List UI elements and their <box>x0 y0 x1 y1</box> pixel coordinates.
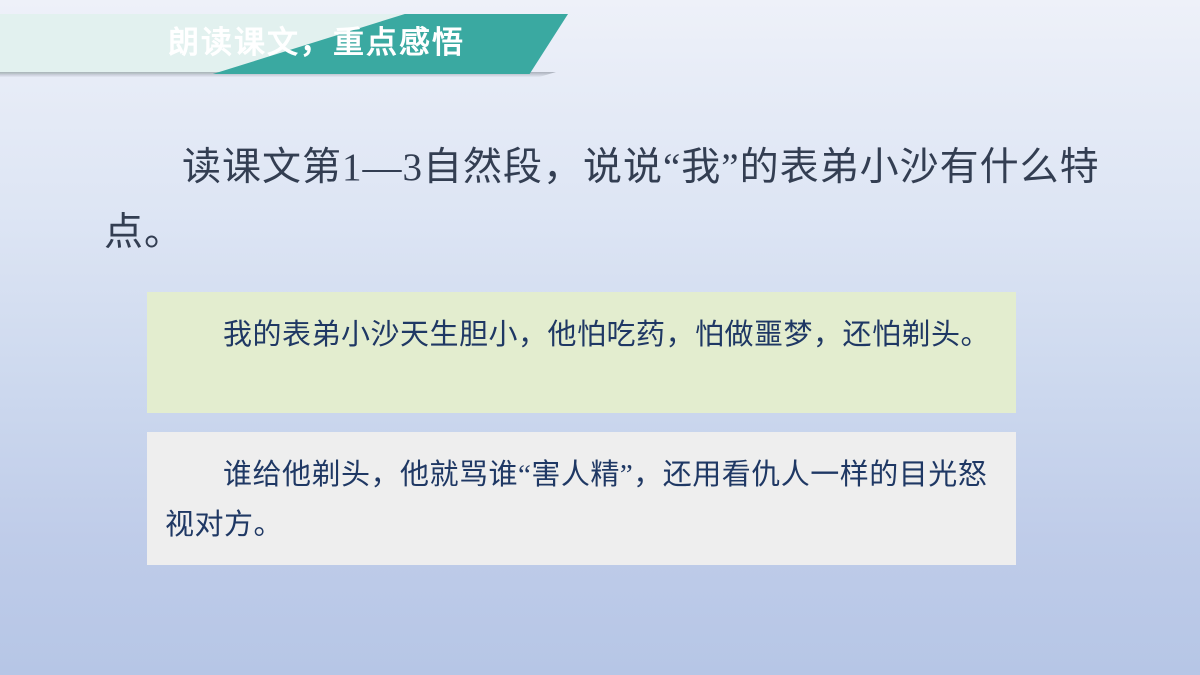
quote-box-gray: 谁给他剃头，他就骂谁“害人精”，还用看仇人一样的目光怒视对方。 <box>147 432 1016 565</box>
banner-title-text: 朗读课文，重点感悟 <box>168 21 465 65</box>
section-header-banner: 朗读课文，重点感悟 <box>0 14 600 78</box>
slide-canvas: 朗读课文，重点感悟 读课文第1—3自然段，说说“我”的表弟小沙有什么特点。 我的… <box>0 0 1200 675</box>
prompt-question-text: 读课文第1—3自然段，说说“我”的表弟小沙有什么特点。 <box>104 135 1104 265</box>
quote-box-green: 我的表弟小沙天生胆小，他怕吃药，怕做噩梦，还怕剃头。 <box>147 292 1016 413</box>
